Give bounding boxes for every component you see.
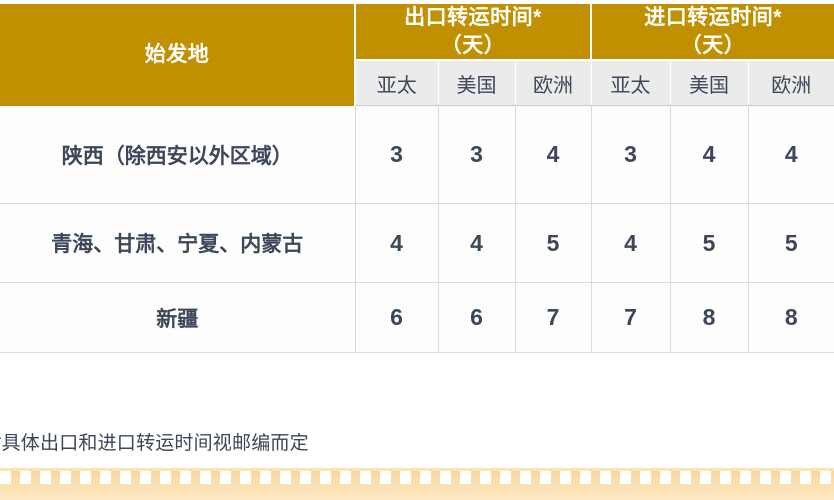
column-group-header-export: 出口转运时间* （天） xyxy=(355,4,591,60)
cell-r2-c0: 6 xyxy=(355,283,438,353)
cell-r2-c1: 6 xyxy=(438,283,515,353)
cell-r0-c4: 4 xyxy=(670,106,748,204)
subcolumn-header-export-apac: 亚太 xyxy=(355,60,438,106)
decorative-film-strip xyxy=(0,468,834,500)
column-group-header-import: 进口转运时间* （天） xyxy=(591,4,834,60)
film-strip-perforations xyxy=(0,471,834,484)
cell-r2-c2: 7 xyxy=(515,283,591,353)
cell-r0-c3: 3 xyxy=(591,106,670,204)
cell-r0-c2: 4 xyxy=(515,106,591,204)
table-body: 陕西（除西安以外区域） 3 3 4 3 4 4 青海、甘肃、宁夏、内蒙古 4 4… xyxy=(0,106,834,353)
cell-r0-c5: 4 xyxy=(748,106,834,204)
export-header-line2: （天） xyxy=(441,34,506,57)
header-group-row: 始发地 出口转运时间* （天） 进口转运时间* （天） xyxy=(0,4,834,60)
cell-r2-c3: 7 xyxy=(591,283,670,353)
subcolumn-header-import-usa: 美国 xyxy=(670,60,748,106)
import-header-line2: （天） xyxy=(681,34,746,57)
subcolumn-header-import-apac: 亚太 xyxy=(591,60,670,106)
subcolumn-header-import-europe: 欧洲 xyxy=(748,60,834,106)
table-footnote: *具体出口和进口转运时间视邮编而定 xyxy=(0,428,594,455)
transit-time-sheet: 始发地 出口转运时间* （天） 进口转运时间* （天） 亚太 美国 欧洲 亚太 … xyxy=(0,0,834,500)
row-label-qinghai-gansu-ningxia-innermongolia: 青海、甘肃、宁夏、内蒙古 xyxy=(0,204,355,283)
row-label-shaanxi: 陕西（除西安以外区域） xyxy=(0,106,355,204)
cell-r1-c1: 4 xyxy=(438,204,515,283)
transit-time-table: 始发地 出口转运时间* （天） 进口转运时间* （天） 亚太 美国 欧洲 亚太 … xyxy=(0,4,834,353)
cell-r1-c0: 4 xyxy=(355,204,438,283)
table-header: 始发地 出口转运时间* （天） 进口转运时间* （天） 亚太 美国 欧洲 亚太 … xyxy=(0,4,834,106)
cell-r2-c5: 8 xyxy=(748,283,834,353)
table-row: 新疆 6 6 7 7 8 8 xyxy=(0,283,834,353)
cell-r2-c4: 8 xyxy=(670,283,748,353)
row-label-xinjiang: 新疆 xyxy=(0,283,355,353)
table-row: 陕西（除西安以外区域） 3 3 4 3 4 4 xyxy=(0,106,834,204)
subcolumn-header-export-europe: 欧洲 xyxy=(515,60,591,106)
subcolumn-header-export-usa: 美国 xyxy=(438,60,515,106)
export-header-line1: 出口转运时间* xyxy=(404,6,542,29)
table-row: 青海、甘肃、宁夏、内蒙古 4 4 5 4 5 5 xyxy=(0,204,834,283)
column-header-origin: 始发地 xyxy=(0,4,355,106)
import-header-line1: 进口转运时间* xyxy=(644,6,782,29)
cell-r0-c1: 3 xyxy=(438,106,515,204)
cell-r1-c4: 5 xyxy=(670,204,748,283)
cell-r1-c2: 5 xyxy=(515,204,591,283)
cell-r1-c5: 5 xyxy=(748,204,834,283)
cell-r1-c3: 4 xyxy=(591,204,670,283)
cell-r0-c0: 3 xyxy=(355,106,438,204)
